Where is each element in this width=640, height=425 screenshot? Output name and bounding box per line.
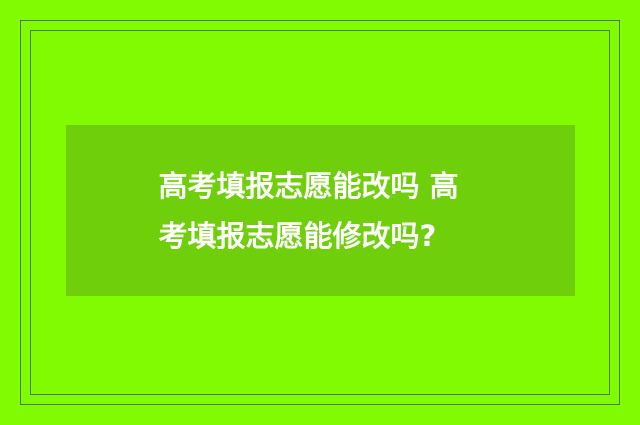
headline-panel: 高考填报志愿能改吗 高考填报志愿能修改吗? <box>66 125 575 296</box>
headline-text: 高考填报志愿能改吗 高考填报志愿能修改吗? <box>159 161 483 261</box>
poster-canvas: 高考填报志愿能改吗 高考填报志愿能修改吗? <box>0 0 640 425</box>
